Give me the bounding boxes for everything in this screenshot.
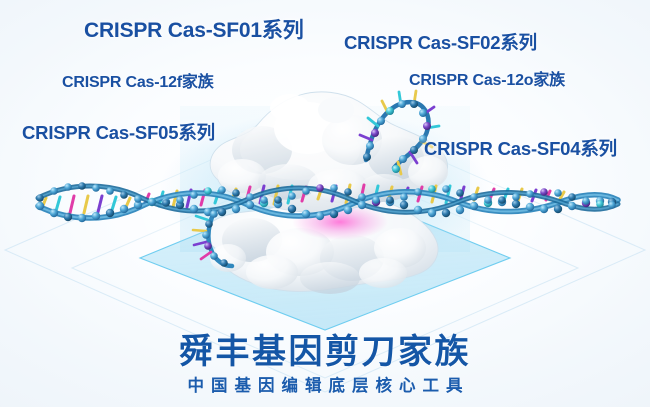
poster-subtitle: 中国基因编辑底层核心工具 xyxy=(0,377,650,395)
headline-block: 舜丰基因剪刀家族 中国基因编辑底层核心工具 xyxy=(0,334,650,395)
poster-title: 舜丰基因剪刀家族 xyxy=(0,334,650,371)
label-cas-sf01: CRISPR Cas-SF01系列 xyxy=(84,14,304,44)
label-cas-12o: CRISPR Cas-12o家族 xyxy=(409,66,565,90)
label-cas-sf02: CRISPR Cas-SF02系列 xyxy=(344,29,537,55)
label-cas-sf04: CRISPR Cas-SF04系列 xyxy=(424,135,617,161)
poster-canvas: CRISPR Cas-SF01系列 CRISPR Cas-SF02系列 CRIS… xyxy=(0,0,650,407)
label-cas-12f: CRISPR Cas-12f家族 xyxy=(62,68,214,92)
label-cas-sf05: CRISPR Cas-SF05系列 xyxy=(22,119,215,145)
